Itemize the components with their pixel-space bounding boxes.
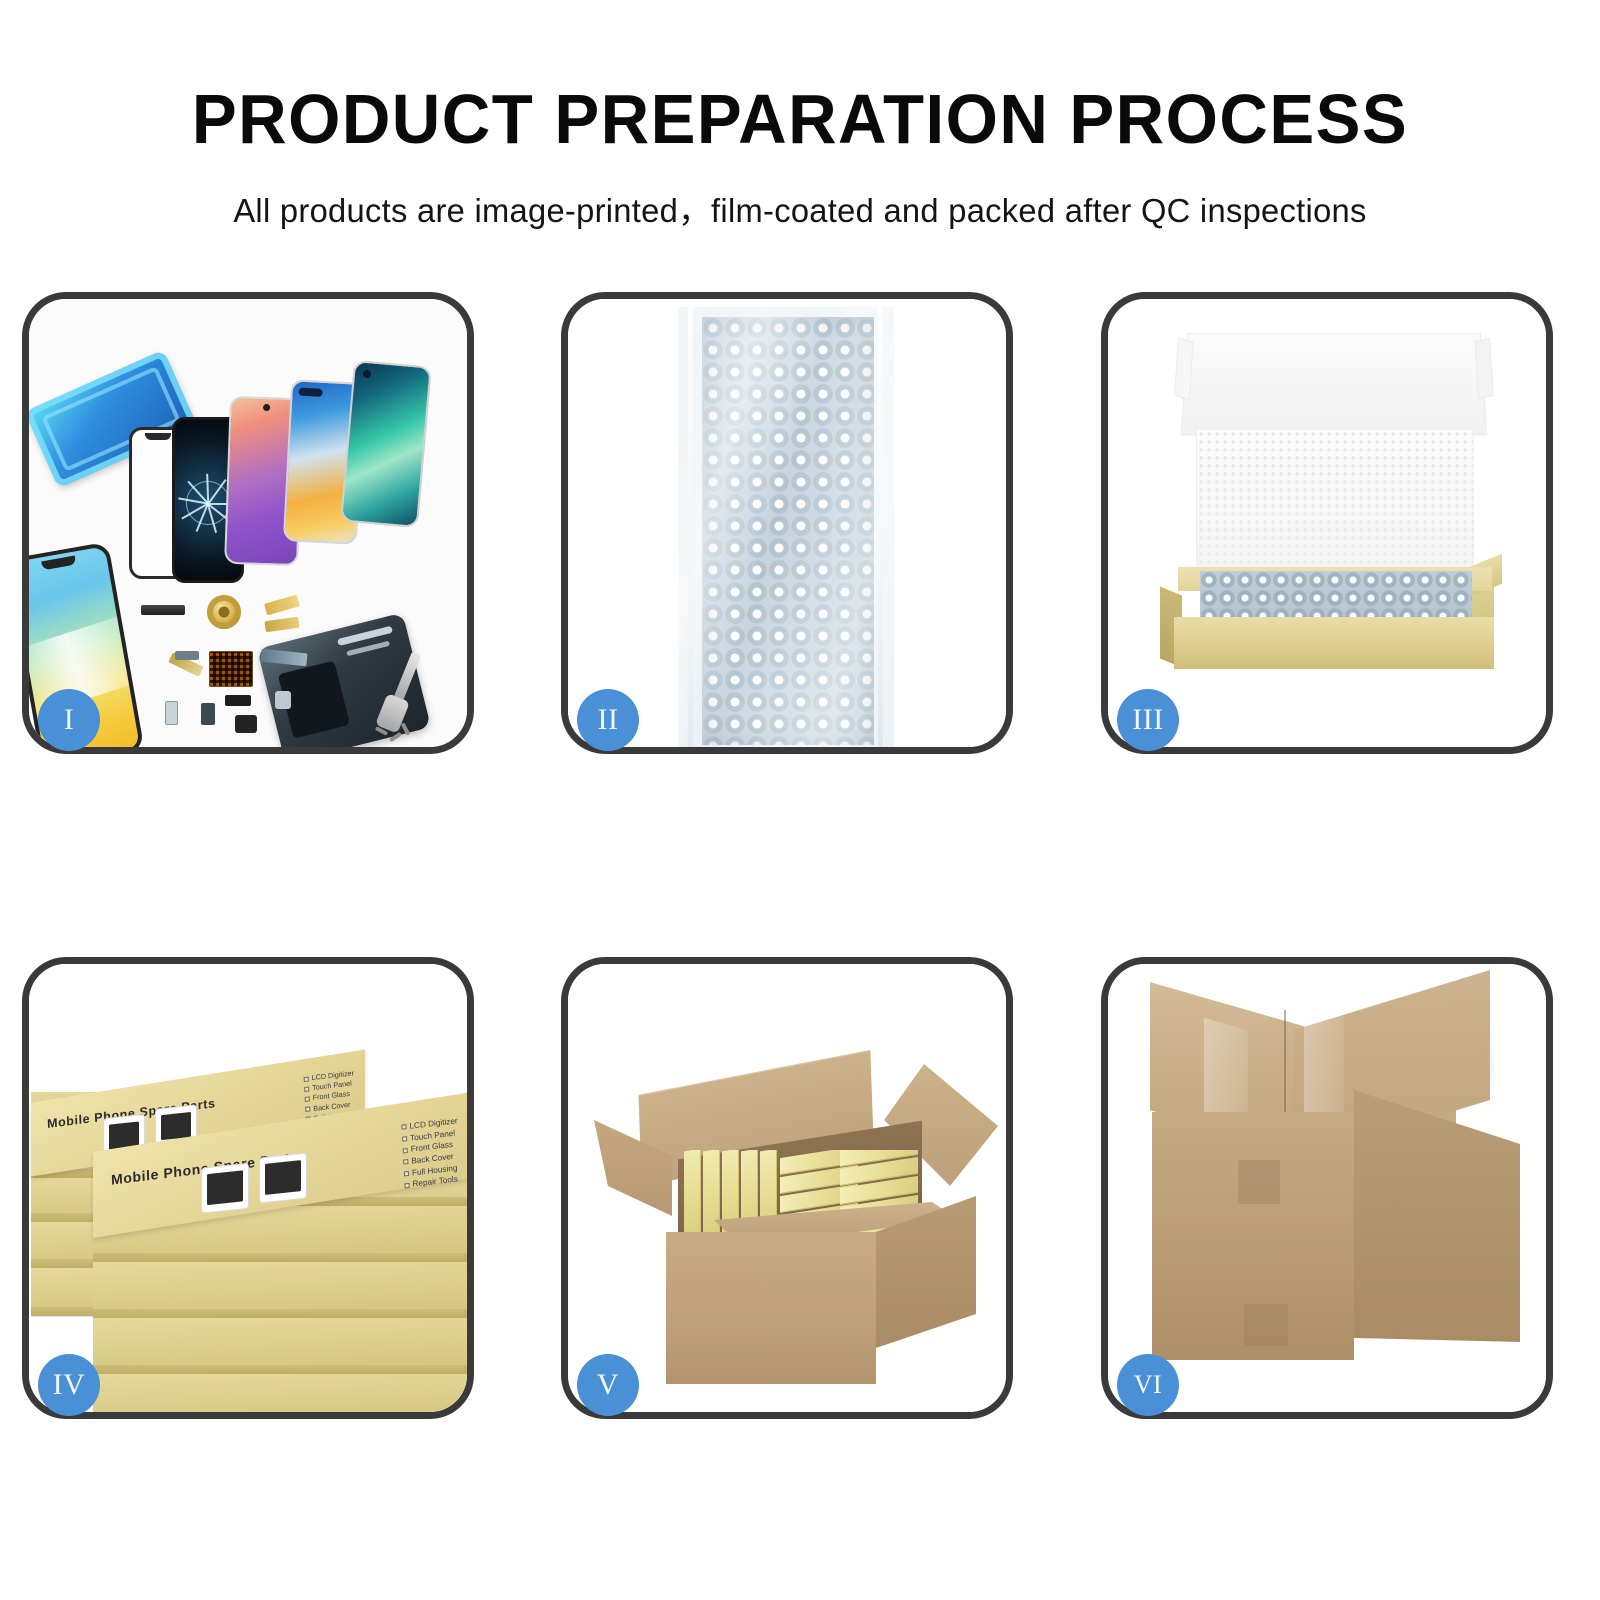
box-front-face (1174, 617, 1494, 669)
sim-tray-part (165, 701, 178, 725)
checkbox-icon (304, 1097, 309, 1103)
checkbox-icon (402, 1136, 407, 1142)
checkbox-icon (305, 1107, 310, 1113)
process-step-panel-1: I (22, 292, 474, 754)
crack-pattern (208, 503, 209, 504)
checkbox-icon (303, 1076, 308, 1082)
phone-parts-scene (29, 299, 467, 747)
small-component-4 (201, 703, 215, 725)
step-badge-6: VI (1117, 1354, 1179, 1416)
small-component-2 (235, 715, 257, 733)
checkbox-icon (402, 1148, 407, 1154)
stacked-box-right-3 (93, 1262, 467, 1318)
step-2-image (568, 299, 1006, 747)
carton-tab-lower (1244, 1304, 1288, 1346)
process-step-panel-5: V (561, 957, 1013, 1419)
small-component-1 (225, 695, 251, 706)
bubble-wrap-sheet (702, 317, 874, 745)
carton-side-face (1354, 1090, 1520, 1342)
box-stack: Mobile Phone Spare Parts LCD Digitizer T… (29, 964, 467, 1412)
flex-cable-1 (264, 595, 300, 616)
foam-padding-sheet (1196, 429, 1474, 571)
stacked-box-right-4 (93, 1318, 467, 1374)
process-steps-grid: I II (0, 0, 1600, 1600)
stacked-retail-boxes-scene: Mobile Phone Spare Parts LCD Digitizer T… (29, 964, 467, 1412)
step-badge-5: V (577, 1354, 639, 1416)
bubble-wrap-scene (568, 299, 1006, 747)
small-component-3 (175, 651, 199, 660)
earpiece-speaker-part (141, 605, 185, 615)
carton-tab-upper (1238, 1160, 1280, 1204)
sealed-shipping-carton-scene (1108, 964, 1546, 1412)
housing-band-2 (346, 641, 390, 656)
retail-box-checklist: LCD Digitizer Touch Panel Front Glass Ba… (401, 1115, 461, 1191)
checkbox-icon (404, 1171, 409, 1177)
step-4-image: Mobile Phone Spare Parts LCD Digitizer T… (29, 964, 467, 1412)
step-badge-4: IV (38, 1354, 100, 1416)
process-step-panel-2: II (561, 292, 1013, 754)
infographic-page: PRODUCT PREPARATION PROCESS All products… (0, 0, 1600, 1600)
bag-seam-right (878, 307, 883, 747)
process-step-panel-6: VI (1101, 957, 1553, 1419)
checkbox-icon (404, 1182, 409, 1188)
step-5-image (568, 964, 1006, 1412)
step-1-image (29, 299, 467, 747)
bag-seam-left (688, 307, 693, 747)
checkbox-icon (403, 1159, 408, 1165)
step-3-image (1108, 299, 1546, 747)
wireless-charging-coil (207, 595, 241, 629)
camera-module-part (275, 691, 291, 709)
checkbox-icon (401, 1125, 406, 1131)
process-step-panel-3: III (1101, 292, 1553, 754)
open-retail-box-scene (1108, 299, 1546, 747)
stacked-box-right-5 (93, 1374, 467, 1412)
open-shipping-carton-scene (568, 964, 1006, 1412)
screws-group (375, 727, 415, 743)
process-step-panel-4: Mobile Phone Spare Parts LCD Digitizer T… (22, 957, 474, 1419)
logic-board-chip (209, 651, 253, 687)
carton-front-face (666, 1232, 876, 1384)
step-badge-1: I (38, 689, 100, 751)
step-6-image (1108, 964, 1546, 1412)
step-badge-3: III (1117, 689, 1179, 751)
step-badge-2: II (577, 689, 639, 751)
flex-cable-2 (264, 617, 299, 633)
bubble-wrapped-product-in-box (1200, 571, 1472, 621)
teal-display-phone (340, 360, 432, 528)
checkbox-icon (304, 1086, 309, 1092)
box-lid-open (1181, 333, 1488, 435)
